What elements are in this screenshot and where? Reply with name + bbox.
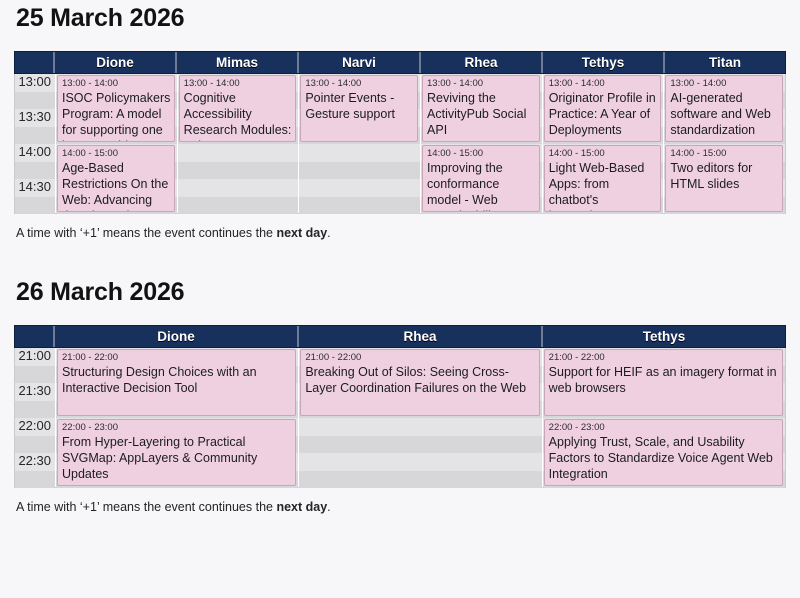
events-layer: 13:00 - 14:00Pointer Events - Gesture su… — [299, 74, 420, 213]
session-card[interactable]: 14:00 - 15:00Age-Based Restrictions On t… — [57, 145, 175, 212]
time-slot — [15, 162, 55, 180]
time-slot — [15, 127, 55, 145]
time-gutter-header — [15, 52, 55, 73]
session-title[interactable]: Structuring Design Choices with an Inter… — [62, 364, 292, 396]
time-slot — [15, 436, 55, 454]
session-time: 13:00 - 14:00 — [670, 78, 779, 90]
room-header-tethys[interactable]: Tethys — [543, 326, 785, 347]
room-header-mimas[interactable]: Mimas — [177, 52, 299, 73]
session-time: 14:00 - 15:00 — [549, 148, 658, 160]
grid-body-day-1: 13:0013:3014:0014:3013:00 - 14:00ISOC Po… — [14, 74, 786, 214]
session-card[interactable]: 14:00 - 15:00Two editors for HTML slides — [665, 145, 783, 212]
time-gutter: 13:0013:3014:0014:30 — [15, 74, 55, 213]
session-card[interactable]: 14:00 - 15:00Light Web-Based Apps: from … — [544, 145, 662, 212]
session-card[interactable]: 13:00 - 14:00AI-generated software and W… — [665, 75, 783, 142]
session-title[interactable]: Breaking Out of Silos: Seeing Cross-Laye… — [305, 364, 535, 396]
session-card[interactable]: 22:00 - 23:00From Hyper-Layering to Prac… — [57, 419, 296, 486]
footnote-text-end: . — [327, 500, 330, 514]
footnote-emphasis: next day — [276, 500, 327, 514]
session-time: 13:00 - 14:00 — [549, 78, 658, 90]
events-layer: 13:00 - 14:00AI-generated software and W… — [664, 74, 785, 213]
footnote-text-end: . — [327, 226, 330, 240]
session-time: 13:00 - 14:00 — [427, 78, 536, 90]
footnote-day-1: A time with ‘+1’ means the event continu… — [0, 224, 800, 242]
room-column: 13:00 - 14:00Cognitive Accessibility Res… — [177, 74, 299, 213]
room-column: 13:00 - 14:00Pointer Events - Gesture su… — [298, 74, 420, 213]
session-title[interactable]: Support for HEIF as an imagery format in… — [549, 364, 779, 396]
session-title[interactable]: Reviving the ActivityPub Social API — [427, 90, 536, 138]
day-section-25-march: 25 March 2026 Dione Mimas Narvi Rhea Tet… — [0, 0, 800, 242]
room-header-titan[interactable]: Titan — [665, 52, 785, 73]
session-time: 21:00 - 22:00 — [549, 352, 779, 364]
schedule-grid-day-2: Dione Rhea Tethys 21:0021:3022:0022:3021… — [14, 325, 786, 488]
day-section-26-march: 26 March 2026 Dione Rhea Tethys 21:0021:… — [0, 276, 800, 516]
session-time: 13:00 - 14:00 — [305, 78, 414, 90]
session-card[interactable]: 13:00 - 14:00ISOC Policymakers Program: … — [57, 75, 175, 142]
room-header-rhea[interactable]: Rhea — [421, 52, 543, 73]
session-title[interactable]: Applying Trust, Scale, and Usability Fac… — [549, 434, 779, 482]
session-card[interactable]: 13:00 - 14:00Cognitive Accessibility Res… — [179, 75, 297, 142]
session-card[interactable]: 21:00 - 22:00Structuring Design Choices … — [57, 349, 296, 416]
events-layer: 13:00 - 14:00ISOC Policymakers Program: … — [56, 74, 177, 213]
time-slot: 21:30 — [15, 383, 55, 401]
time-slot: 22:30 — [15, 453, 55, 471]
time-label: 14:00 — [18, 143, 51, 160]
events-layer: 21:00 - 22:00Structuring Design Choices … — [56, 348, 298, 487]
time-slot: 22:00 — [15, 418, 55, 436]
events-layer: 13:00 - 14:00Cognitive Accessibility Res… — [178, 74, 299, 213]
room-header-tethys[interactable]: Tethys — [543, 52, 665, 73]
session-title[interactable]: ISOC Policymakers Program: A model for s… — [62, 90, 171, 142]
time-slot — [15, 401, 55, 419]
footnote-emphasis: next day — [276, 226, 327, 240]
session-card[interactable]: 21:00 - 22:00Breaking Out of Silos: Seei… — [300, 349, 539, 416]
footnote-text-start: A time with ‘+1’ means the event continu… — [16, 500, 276, 514]
time-label: 13:30 — [18, 108, 51, 125]
room-header-rhea[interactable]: Rhea — [299, 326, 543, 347]
session-card[interactable]: 21:00 - 22:00Support for HEIF as an imag… — [544, 349, 783, 416]
session-time: 14:00 - 15:00 — [670, 148, 779, 160]
session-card[interactable]: 13:00 - 14:00Pointer Events - Gesture su… — [300, 75, 418, 142]
room-header-dione[interactable]: Dione — [55, 52, 177, 73]
time-slot: 14:00 — [15, 144, 55, 162]
room-column: 21:00 - 22:00Support for HEIF as an imag… — [542, 348, 785, 487]
footnote-text-start: A time with ‘+1’ means the event continu… — [16, 226, 276, 240]
session-card[interactable]: 22:00 - 23:00Applying Trust, Scale, and … — [544, 419, 783, 486]
room-column: 13:00 - 14:00Originator Profile in Pract… — [542, 74, 664, 213]
session-time: 14:00 - 15:00 — [427, 148, 536, 160]
room-column: 21:00 - 22:00Structuring Design Choices … — [55, 348, 298, 487]
time-label: 22:00 — [18, 417, 51, 434]
time-slot: 14:30 — [15, 179, 55, 197]
session-time: 21:00 - 22:00 — [62, 352, 292, 364]
time-gutter-header — [15, 326, 55, 347]
session-title[interactable]: Light Web-Based Apps: from chatbot's int… — [549, 160, 658, 212]
time-slot — [15, 366, 55, 384]
time-label: 13:00 — [18, 73, 51, 90]
time-slot — [15, 92, 55, 110]
room-column: 21:00 - 22:00Breaking Out of Silos: Seei… — [298, 348, 541, 487]
room-column: 13:00 - 14:00Reviving the ActivityPub So… — [420, 74, 542, 213]
page-title-day-2: 26 March 2026 — [0, 276, 800, 307]
session-title[interactable]: Two editors for HTML slides — [670, 160, 779, 192]
room-header-narvi[interactable]: Narvi — [299, 52, 421, 73]
time-slot: 13:30 — [15, 109, 55, 127]
events-layer: 21:00 - 22:00Breaking Out of Silos: Seei… — [299, 348, 541, 487]
session-title[interactable]: From Hyper-Layering to Practical SVGMap:… — [62, 434, 292, 482]
room-column: 13:00 - 14:00ISOC Policymakers Program: … — [55, 74, 177, 213]
time-label: 21:00 — [18, 347, 51, 364]
session-title[interactable]: AI-generated software and Web standardiz… — [670, 90, 779, 138]
grid-header-row-day-2: Dione Rhea Tethys — [14, 325, 786, 348]
footnote-day-2: A time with ‘+1’ means the event continu… — [0, 498, 800, 516]
time-gutter: 21:0021:3022:0022:30 — [15, 348, 55, 487]
events-layer: 21:00 - 22:00Support for HEIF as an imag… — [543, 348, 785, 487]
session-time: 22:00 - 23:00 — [549, 422, 779, 434]
session-time: 14:00 - 15:00 — [62, 148, 171, 160]
session-title[interactable]: Pointer Events - Gesture support — [305, 90, 414, 122]
time-label: 14:30 — [18, 178, 51, 195]
session-time: 21:00 - 22:00 — [305, 352, 535, 364]
time-slot: 13:00 — [15, 74, 55, 92]
page-title-day-1: 25 March 2026 — [0, 0, 800, 33]
schedule-grid-day-1: Dione Mimas Narvi Rhea Tethys Titan 13:0… — [14, 51, 786, 214]
session-card[interactable]: 14:00 - 15:00Improving the conformance m… — [422, 145, 540, 212]
session-card[interactable]: 13:00 - 14:00Originator Profile in Pract… — [544, 75, 662, 142]
session-time: 13:00 - 14:00 — [62, 78, 171, 90]
time-label: 22:30 — [18, 452, 51, 469]
events-layer: 13:00 - 14:00Originator Profile in Pract… — [543, 74, 664, 213]
grid-header-row-day-1: Dione Mimas Narvi Rhea Tethys Titan — [14, 51, 786, 74]
grid-body-day-2: 21:0021:3022:0022:3021:00 - 22:00Structu… — [14, 348, 786, 488]
time-slot: 21:00 — [15, 348, 55, 366]
session-card[interactable]: 13:00 - 14:00Reviving the ActivityPub So… — [422, 75, 540, 142]
schedule-page: 25 March 2026 Dione Mimas Narvi Rhea Tet… — [0, 0, 800, 598]
events-layer: 13:00 - 14:00Reviving the ActivityPub So… — [421, 74, 542, 213]
session-title[interactable]: Cognitive Accessibility Research Modules… — [184, 90, 293, 142]
session-time: 13:00 - 14:00 — [184, 78, 293, 90]
session-time: 22:00 - 23:00 — [62, 422, 292, 434]
time-slot — [15, 471, 55, 489]
room-header-dione[interactable]: Dione — [55, 326, 299, 347]
time-slot — [15, 197, 55, 215]
session-title[interactable]: Improving the conformance model - Web Su… — [427, 160, 536, 212]
session-title[interactable]: Age-Based Restrictions On the Web: Advan… — [62, 160, 171, 212]
session-title[interactable]: Originator Profile in Practice: A Year o… — [549, 90, 658, 138]
room-column: 13:00 - 14:00AI-generated software and W… — [663, 74, 785, 213]
time-label: 21:30 — [18, 382, 51, 399]
